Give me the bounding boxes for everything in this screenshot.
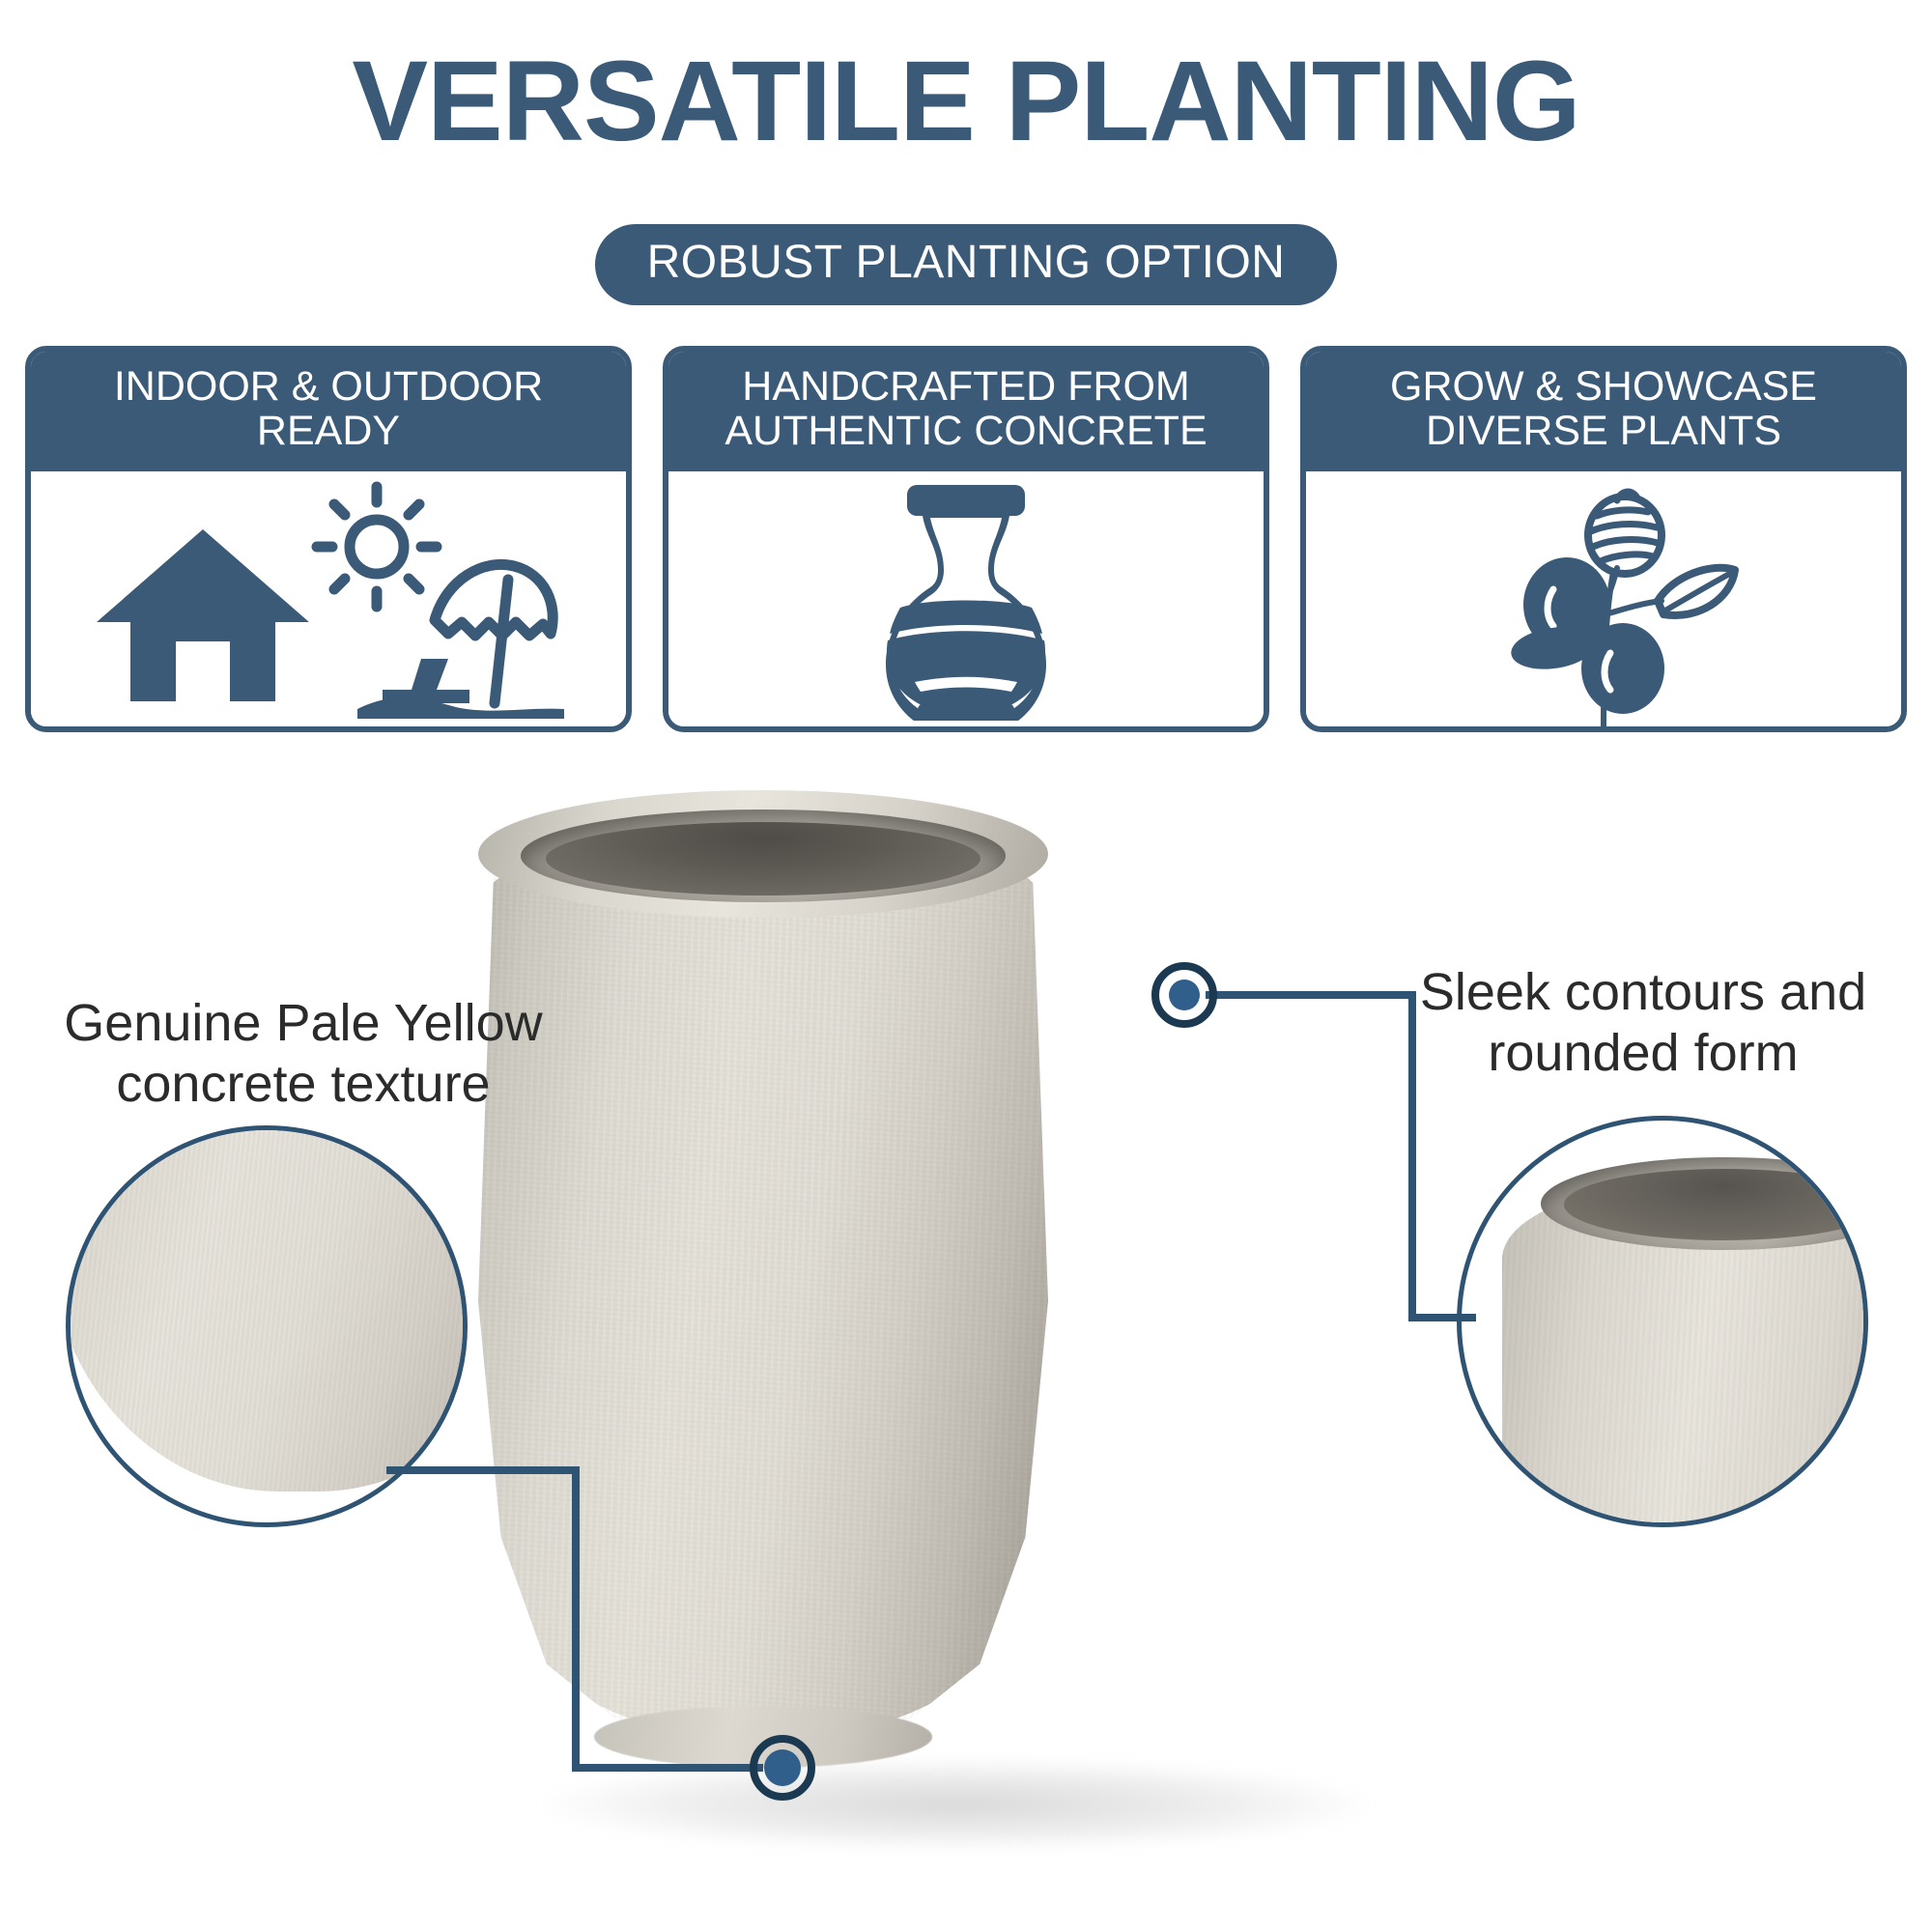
feature-card-icons (668, 471, 1264, 732)
feature-card-handcrafted-concrete: HANDCRAFTED FROM AUTHENTIC CONCRETE (663, 346, 1269, 732)
feature-card-icons (1306, 471, 1901, 732)
berry-bottom (1584, 626, 1662, 711)
planter-texture (478, 829, 1048, 1737)
infographic-root: VERSATILE PLANTING ROBUST PLANTING OPTIO… (0, 0, 1932, 1932)
feature-card-icons (31, 471, 626, 732)
closeup-base-texture (66, 1125, 468, 1527)
page-title: VERSATILE PLANTING (0, 44, 1932, 158)
feature-card-grow-showcase: GROW & SHOWCASE DIVERSE PLANTS (1300, 346, 1907, 732)
feature-card-title: INDOOR & OUTDOOR READY (30, 351, 627, 471)
planter-cavity (546, 822, 980, 895)
callout-label-contour: Sleek contours and rounded form (1360, 962, 1926, 1083)
striped-berry-top (1588, 492, 1662, 574)
feature-card-row: INDOOR & OUTDOOR READY (25, 346, 1907, 732)
feature-card-indoor-outdoor: INDOOR & OUTDOOR READY (25, 346, 632, 732)
badge-row: ROBUST PLANTING OPTION (0, 224, 1932, 305)
closeup-base-grain (66, 1125, 468, 1492)
closeup-rim-cavity (1564, 1169, 1868, 1240)
leaf-right (1658, 568, 1735, 615)
berry-branch-icon (1459, 479, 1748, 730)
status-badge: ROBUST PLANTING OPTION (595, 224, 1338, 305)
closeup-rim-contour (1457, 1116, 1868, 1527)
planter-foot (594, 1706, 932, 1768)
house-icon (97, 529, 309, 701)
feature-card-title: GROW & SHOWCASE DIVERSE PLANTS (1305, 351, 1902, 471)
indoor-outdoor-icon-group (68, 479, 589, 721)
beach-umbrella-icon (357, 564, 564, 719)
feature-card-title: HANDCRAFTED FROM AUTHENTIC CONCRETE (668, 351, 1264, 471)
vase-icon (855, 479, 1077, 721)
product-image-concrete-planter (478, 790, 1048, 1776)
sun-icon (317, 487, 437, 607)
callout-label-texture: Genuine Pale Yellow concrete texture (14, 993, 593, 1114)
